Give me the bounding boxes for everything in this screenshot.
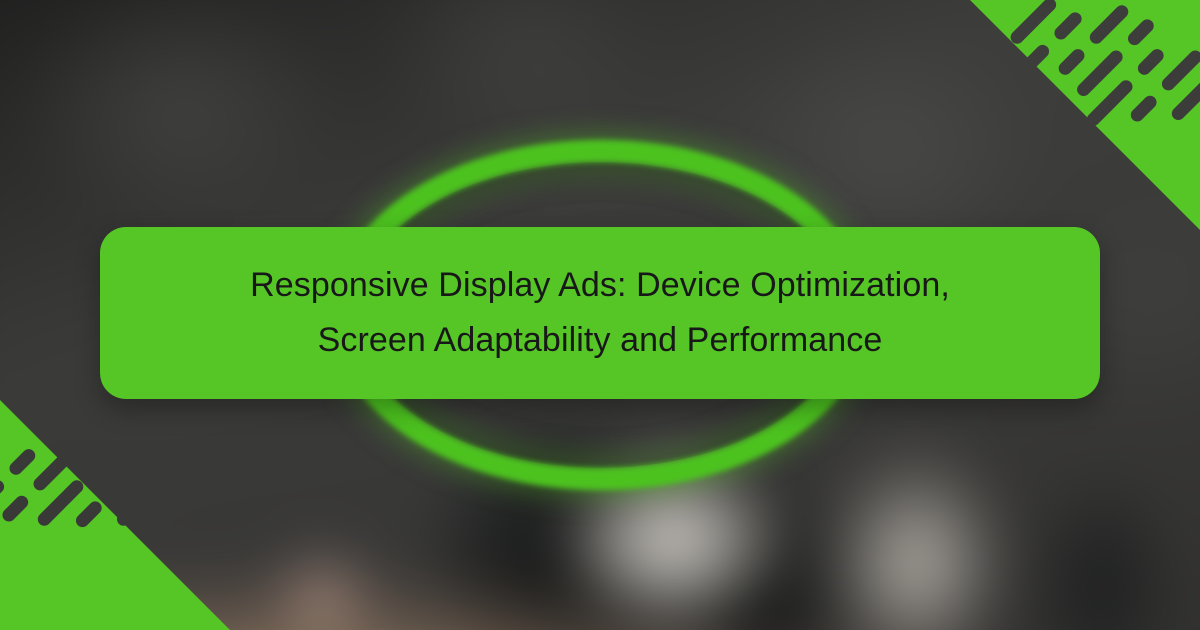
corner-decoration-top-right — [970, 0, 1200, 230]
corner-decoration-bottom-left — [0, 400, 230, 630]
title-card: Responsive Display Ads: Device Optimizat… — [100, 227, 1100, 399]
share-card-canvas: Responsive Display Ads: Device Optimizat… — [0, 0, 1200, 630]
page-title: Responsive Display Ads: Device Optimizat… — [250, 258, 950, 368]
